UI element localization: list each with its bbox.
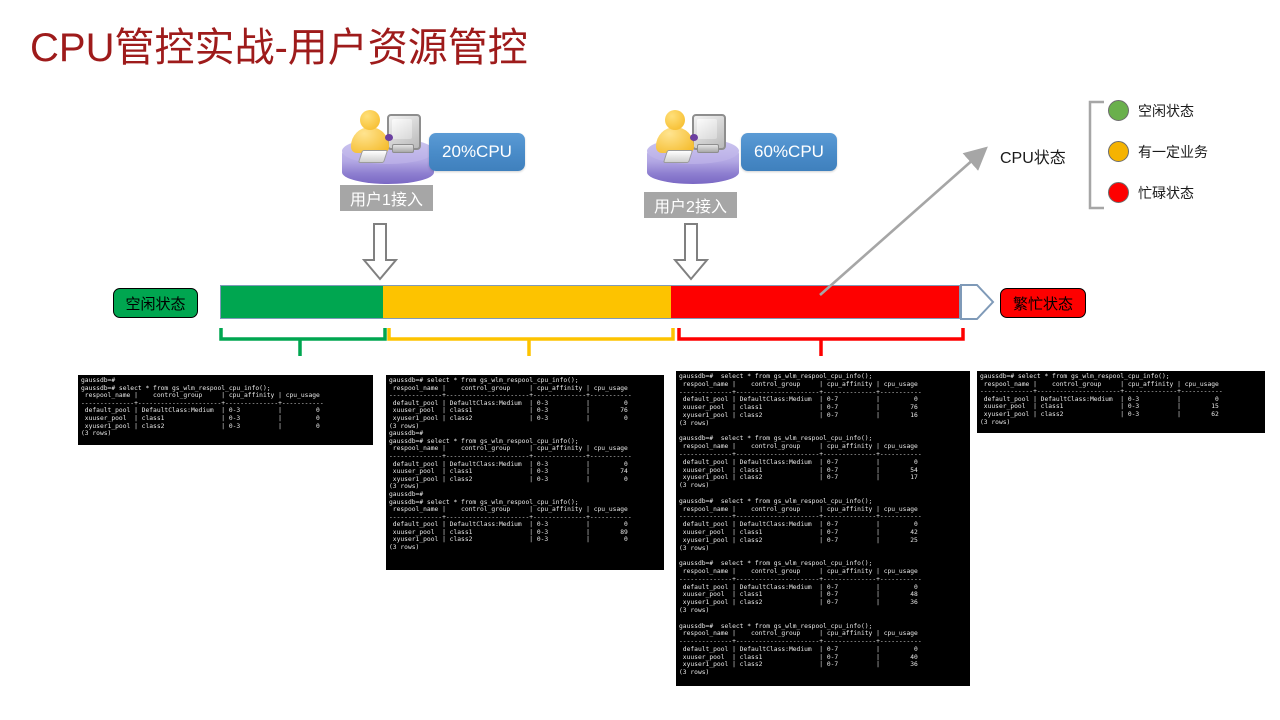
user-workstation-icon-1	[340, 108, 436, 184]
terminal-output-3: gaussdb=# select * from gs_wlm_respool_c…	[679, 373, 967, 677]
brace-idle	[218, 326, 388, 358]
monitor-screen-shape	[697, 119, 717, 139]
terminal-block-4: gaussdb=# select * from gs_wlm_respool_c…	[977, 371, 1265, 433]
monitor-stand-shape	[392, 144, 414, 153]
keyboard-icon	[663, 150, 693, 163]
terminal-block-3: gaussdb=# select * from gs_wlm_respool_c…	[676, 371, 970, 686]
legend-dot-yellow-icon	[1108, 141, 1129, 162]
down-arrow-icon-user1	[361, 222, 399, 282]
user-caption-1: 用户1接入	[340, 185, 433, 211]
user-workstation-icon-2	[645, 108, 741, 184]
bar-segment-idle	[221, 286, 383, 318]
legend-dot-green-icon	[1108, 100, 1129, 121]
page-title: CPU管控实战-用户资源管控	[30, 24, 528, 72]
mouse-icon	[690, 134, 698, 141]
terminal-output-2: gaussdb=# select * from gs_wlm_respool_c…	[389, 377, 661, 552]
bar-segment-medium	[383, 286, 671, 318]
person-head-shape	[665, 110, 685, 130]
person-head-shape	[360, 110, 380, 130]
cpu-state-pointer-arrow-icon	[816, 140, 996, 300]
legend-label-busy: 忙碌状态	[1138, 183, 1194, 203]
down-arrow-icon-user2	[672, 222, 710, 282]
legend-item-busy: 忙碌状态	[1108, 182, 1194, 203]
legend: 空闲状态 有一定业务 忙碌状态	[1086, 100, 1256, 210]
status-badge-busy: 繁忙状态	[1000, 288, 1086, 318]
terminal-output-4: gaussdb=# select * from gs_wlm_respool_c…	[980, 373, 1262, 426]
terminal-output-1: gaussdb=# gaussdb=# select * from gs_wlm…	[81, 377, 370, 438]
monitor-stand-shape	[697, 144, 719, 153]
legend-item-medium: 有一定业务	[1108, 141, 1208, 162]
monitor-screen-shape	[392, 119, 412, 139]
legend-item-idle: 空闲状态	[1108, 100, 1194, 121]
cpu-state-label: CPU状态	[1000, 144, 1066, 168]
legend-dot-red-icon	[1108, 182, 1129, 203]
legend-label-idle: 空闲状态	[1138, 101, 1194, 121]
status-badge-idle: 空闲状态	[113, 288, 198, 318]
brace-medium	[386, 326, 676, 358]
brace-busy	[676, 326, 966, 358]
terminal-block-1: gaussdb=# gaussdb=# select * from gs_wlm…	[78, 375, 373, 445]
cpu-usage-badge-user1: 20%CPU	[429, 133, 525, 171]
slide-canvas: CPU管控实战-用户资源管控 20%CPU 用户1接入 60%CPU 用户2接入	[0, 0, 1280, 720]
legend-bracket	[1086, 100, 1106, 210]
user-caption-2: 用户2接入	[644, 192, 737, 218]
mouse-icon	[385, 134, 393, 141]
keyboard-icon	[358, 150, 388, 163]
legend-label-medium: 有一定业务	[1138, 142, 1208, 162]
terminal-block-2: gaussdb=# select * from gs_wlm_respool_c…	[386, 375, 664, 570]
